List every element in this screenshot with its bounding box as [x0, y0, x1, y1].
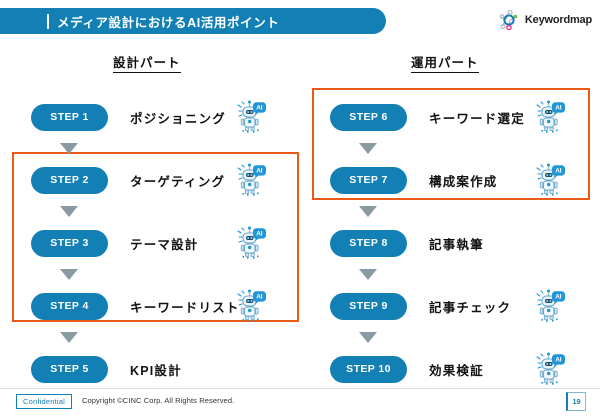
keywordmap-logo: Keywordmap: [499, 9, 592, 31]
step-row-step-8[interactable]: STEP 8記事執筆: [330, 228, 580, 258]
step-badge[interactable]: STEP 3: [31, 230, 108, 257]
step-label: テーマ設計: [130, 234, 199, 253]
page-title: メディア設計におけるAI活用ポイント: [57, 12, 279, 31]
step-row-step-6[interactable]: STEP 6キーワード選定 AI: [330, 102, 580, 132]
step-label: キーワードリスト: [130, 297, 240, 316]
ai-robot-icon: AI: [236, 99, 268, 133]
step-row-step-5[interactable]: STEP 5KPI設計: [31, 354, 281, 384]
header-accent-mark: [47, 14, 49, 29]
slide-canvas: メディア設計におけるAI活用ポイント Keywordmap: [0, 0, 600, 416]
ai-robot-icon: AI: [236, 225, 268, 259]
svg-text:AI: AI: [555, 104, 562, 111]
flow-arrow: [359, 143, 377, 154]
column-heading-design: 設計パート: [113, 52, 181, 73]
ai-robot-icon: AI: [535, 351, 567, 385]
step-badge[interactable]: STEP 8: [330, 230, 407, 257]
step-label: 構成案作成: [429, 171, 498, 190]
step-badge[interactable]: STEP 2: [31, 167, 108, 194]
step-row-step-2[interactable]: STEP 2ターゲティング AI: [31, 165, 281, 195]
step-label: 記事執筆: [429, 234, 484, 253]
flow-arrow: [60, 143, 78, 154]
step-label: キーワード選定: [429, 108, 525, 127]
step-row-step-3[interactable]: STEP 3テーマ設計 AI: [31, 228, 281, 258]
svg-text:AI: AI: [256, 167, 263, 174]
ai-robot-icon: AI: [535, 162, 567, 196]
step-row-step-4[interactable]: STEP 4キーワードリスト AI: [31, 291, 281, 321]
step-label: ターゲティング: [130, 171, 225, 190]
flow-arrow: [359, 332, 377, 343]
step-label: 記事チェック: [429, 297, 511, 316]
step-badge[interactable]: STEP 6: [330, 104, 407, 131]
page-number-badge: 19: [566, 392, 586, 411]
step-label: ポジショニング: [130, 108, 226, 127]
ai-robot-icon: AI: [236, 288, 268, 322]
step-badge[interactable]: STEP 4: [31, 293, 108, 320]
flow-arrow: [60, 332, 78, 343]
copyright-text: Copyright ©CINC Corp. All Rights Reserve…: [82, 396, 234, 405]
ai-robot-icon: AI: [535, 99, 567, 133]
logo-text: Keywordmap: [525, 14, 592, 26]
svg-text:AI: AI: [256, 230, 263, 237]
step-row-step-10[interactable]: STEP 10効果検証 AI: [330, 354, 580, 384]
flow-arrow: [359, 206, 377, 217]
column-heading-operation: 運用パート: [411, 52, 479, 73]
flow-arrow: [60, 269, 78, 280]
step-badge[interactable]: STEP 10: [330, 356, 407, 383]
flow-arrow: [359, 269, 377, 280]
step-badge[interactable]: STEP 9: [330, 293, 407, 320]
footer-divider: [0, 388, 600, 389]
step-badge[interactable]: STEP 5: [31, 356, 108, 383]
step-row-step-9[interactable]: STEP 9記事チェック AI: [330, 291, 580, 321]
step-label: 効果検証: [429, 360, 484, 379]
slide-header-bar: メディア設計におけるAI活用ポイント: [0, 8, 386, 34]
svg-text:AI: AI: [555, 356, 562, 363]
step-label: KPI設計: [130, 360, 182, 379]
svg-text:AI: AI: [256, 104, 263, 111]
svg-text:AI: AI: [555, 167, 562, 174]
step-badge[interactable]: STEP 1: [31, 104, 108, 131]
confidential-badge: Confidential: [16, 394, 72, 409]
ai-robot-icon: AI: [236, 162, 268, 196]
svg-text:AI: AI: [256, 293, 263, 300]
step-row-step-1[interactable]: STEP 1ポジショニング AI: [31, 102, 281, 132]
ai-robot-icon: AI: [535, 288, 567, 322]
step-row-step-7[interactable]: STEP 7構成案作成 AI: [330, 165, 580, 195]
flow-arrow: [60, 206, 78, 217]
svg-text:AI: AI: [555, 293, 562, 300]
step-badge[interactable]: STEP 7: [330, 167, 407, 194]
molecule-network-icon: [499, 9, 523, 31]
